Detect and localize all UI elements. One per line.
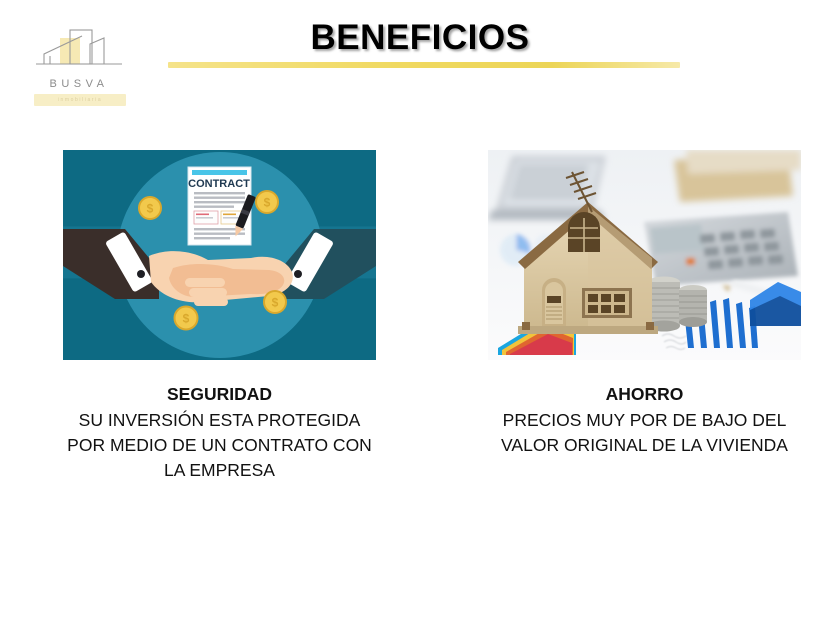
benefit-image-seguridad: CONTRACT xyxy=(63,150,376,360)
slide-canvas: BUSVA inmobiliaria BENEFICIOS CONTRACT xyxy=(0,0,840,630)
handshake-scene: CONTRACT xyxy=(63,150,376,360)
logo-tagline: inmobiliaria xyxy=(34,94,126,106)
benefit-card-seguridad: CONTRACT xyxy=(63,150,376,483)
contract-document-icon: CONTRACT xyxy=(188,167,251,245)
benefit-heading: SEGURIDAD xyxy=(63,382,376,407)
svg-text:CONTRACT: CONTRACT xyxy=(188,178,250,190)
svg-text:$: $ xyxy=(264,196,271,210)
benefit-image-ahorro xyxy=(488,150,801,360)
benefit-caption-seguridad: SEGURIDAD SU INVERSIÓN ESTA PROTEGIDA PO… xyxy=(63,382,376,483)
svg-text:$: $ xyxy=(183,312,190,326)
benefit-heading: AHORRO xyxy=(488,382,801,407)
benefit-description: SU INVERSIÓN ESTA PROTEGIDA POR MEDIO DE… xyxy=(63,408,376,483)
benefit-description: PRECIOS MUY POR DE BAJO DEL VALOR ORIGIN… xyxy=(488,408,801,458)
benefit-caption-ahorro: AHORRO PRECIOS MUY POR DE BAJO DEL VALOR… xyxy=(488,382,801,458)
house-coins-scene xyxy=(488,150,801,360)
svg-text:$: $ xyxy=(147,202,154,216)
calculator-icon xyxy=(644,212,798,286)
house-coins-photo xyxy=(488,150,801,360)
handshake-contract-illustration: CONTRACT xyxy=(63,150,376,360)
benefit-card-ahorro: AHORRO PRECIOS MUY POR DE BAJO DEL VALOR… xyxy=(488,150,801,458)
svg-text:$: $ xyxy=(272,296,279,310)
title-underline-rule xyxy=(168,62,680,68)
logo-brand-text: BUSVA xyxy=(24,78,134,90)
page-title: BENEFICIOS xyxy=(0,18,840,58)
